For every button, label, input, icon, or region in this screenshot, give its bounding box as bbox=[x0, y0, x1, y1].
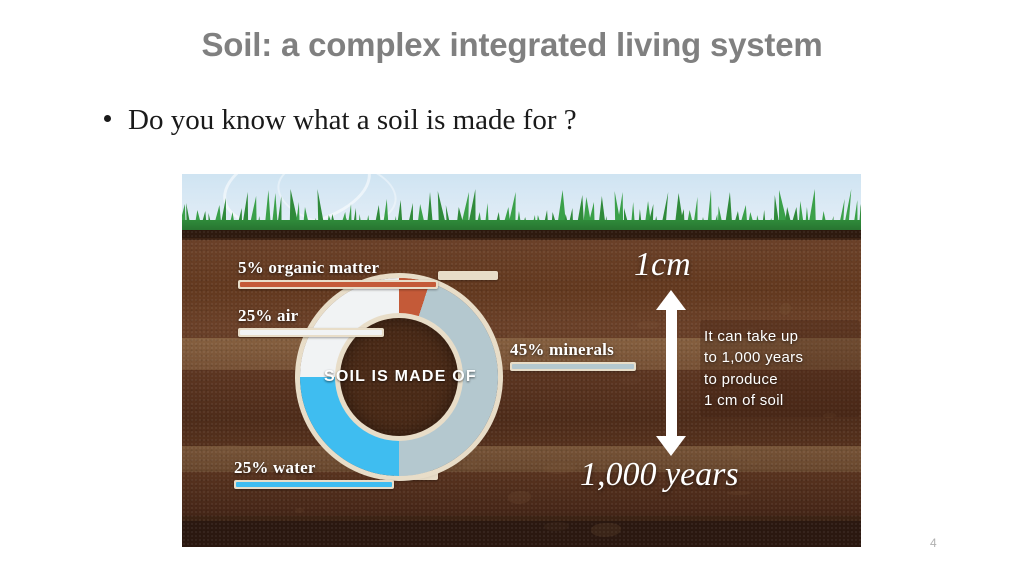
page-number: 4 bbox=[930, 536, 937, 550]
callout-water-bar bbox=[234, 480, 394, 489]
callout-air: 25% air bbox=[238, 306, 384, 337]
page-title: Soil: a complex integrated living system bbox=[0, 26, 1024, 64]
callout-minerals: 45% minerals bbox=[510, 340, 636, 371]
fact-text: It can take up to 1,000 years to produce… bbox=[704, 326, 856, 411]
arrow-shaft bbox=[666, 308, 677, 438]
callout-organic-matter: 5% organic matter bbox=[238, 258, 438, 289]
soil-infographic-image: SOIL IS MADE OF 5% organic matter 25% ai… bbox=[182, 174, 861, 547]
callout-organic-matter-bar bbox=[238, 280, 438, 289]
callout-organic-matter-label: 5% organic matter bbox=[238, 258, 438, 278]
bullet-list-item: Do you know what a soil is made for ? bbox=[104, 104, 577, 137]
callout-minerals-bar bbox=[510, 362, 636, 371]
callout-air-bar bbox=[238, 328, 384, 337]
donut-center-label: SOIL IS MADE OF bbox=[324, 368, 474, 386]
depth-label-1cm: 1cm bbox=[634, 246, 691, 284]
slide-canvas: Soil: a complex integrated living system… bbox=[0, 0, 1024, 576]
arrow-head-down bbox=[656, 436, 686, 456]
soil-bedrock-floor bbox=[182, 521, 861, 547]
bullet-point-icon bbox=[104, 115, 111, 122]
callout-water-label: 25% water bbox=[234, 458, 394, 478]
arrow-head-up bbox=[656, 290, 686, 310]
time-label-1000-years: 1,000 years bbox=[580, 456, 739, 494]
callout-air-label: 25% air bbox=[238, 306, 384, 326]
bullet-text: Do you know what a soil is made for ? bbox=[128, 104, 577, 137]
fact-callout-box: It can take up to 1,000 years to produce… bbox=[700, 320, 860, 417]
vertical-double-arrow-icon bbox=[656, 290, 686, 456]
callout-minerals-label: 45% minerals bbox=[510, 340, 636, 360]
callout-water: 25% water bbox=[234, 458, 394, 489]
